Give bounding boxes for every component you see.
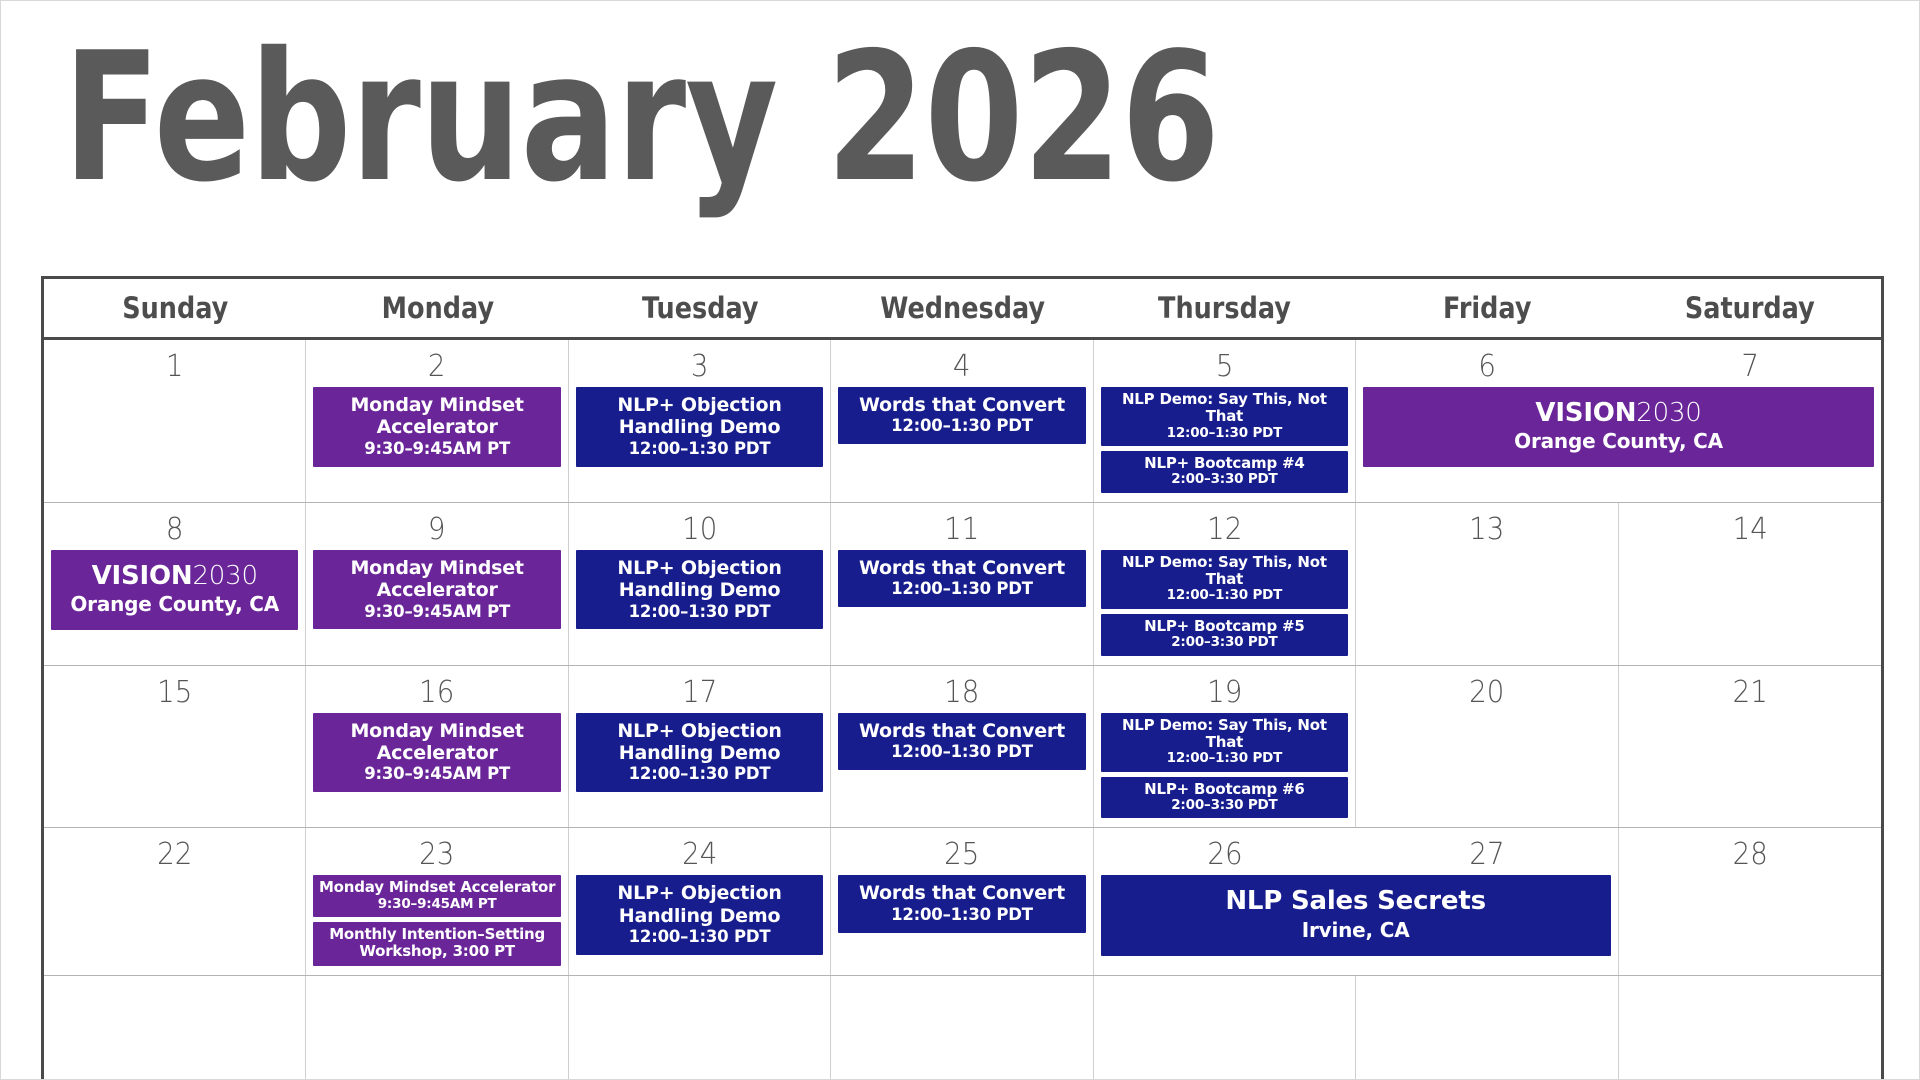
day-events: Monday Mindset Accelerator 9:30–9:45AM P…	[306, 550, 567, 639]
day-cell-23[interactable]: 23 Monday Mindset Accelerator 9:30–9:45A…	[306, 828, 568, 974]
event-time: 12:00–1:30 PDT	[1105, 426, 1344, 442]
event-title: Monday Mindset Accelerator	[317, 879, 556, 896]
event-time: 12:00–1:30 PDT	[1105, 588, 1344, 604]
event-title: NLP Demo: Say This, Not That	[1105, 391, 1344, 426]
day-cell-26: 26	[1094, 828, 1356, 875]
day-events: NLP Demo: Say This, Not That 12:00–1:30 …	[1094, 550, 1355, 665]
day-cell-empty-4[interactable]	[831, 976, 1093, 1080]
page-title-text: February 2026	[63, 36, 1219, 200]
weekday-label: Friday	[1443, 291, 1531, 325]
event-nlp-demo-say-this-not-that[interactable]: NLP Demo: Say This, Not That 12:00–1:30 …	[1101, 387, 1348, 446]
event-title: NLP Sales Secrets	[1107, 886, 1605, 917]
event-nlp-demo-say-this-not-that[interactable]: NLP Demo: Say This, Not That 12:00–1:30 …	[1101, 550, 1348, 609]
day-number: 17	[579, 666, 820, 713]
day-events: Words that Convert 12:00–1:30 PDT	[831, 713, 1092, 779]
day-cell-14[interactable]: 14	[1619, 503, 1881, 665]
day-number: 26	[1104, 828, 1345, 875]
event-time: 2:00–3:30 PDT	[1105, 472, 1344, 488]
event-location: Orange County, CA	[1369, 429, 1868, 454]
event-title: NLP Demo: Say This, Not That	[1105, 717, 1344, 752]
day-number: 14	[1629, 503, 1870, 550]
weekday-header-tuesday: Tuesday	[569, 279, 831, 337]
event-title: NLP+ Objection	[581, 394, 818, 416]
day-cell-19[interactable]: 19 NLP Demo: Say This, Not That 12:00–1:…	[1094, 666, 1356, 828]
day-cell-28[interactable]: 28	[1619, 828, 1881, 974]
week-row-1: 1 2 Monday Mindset Accelerator 9:30–9:45…	[44, 340, 1881, 503]
event-title: Monday Mindset	[318, 720, 555, 742]
event-title: NLP+ Objection	[581, 557, 818, 579]
event-title: Words that Convert	[843, 557, 1080, 579]
event-title: NLP Demo: Say This, Not That	[1105, 554, 1344, 589]
day-number: 13	[1367, 503, 1608, 550]
event-title-line2: Handling Demo	[581, 742, 818, 764]
event-brand-bold: VISION	[1535, 398, 1636, 428]
weekday-header-thursday: Thursday	[1094, 279, 1356, 337]
event-location: Irvine, CA	[1107, 918, 1605, 943]
event-title: NLP+ Bootcamp #4	[1105, 455, 1344, 472]
day-events: NLP+ Objection Handling Demo 12:00–1:30 …	[569, 387, 830, 476]
event-time: 12:00–1:30 PDT	[581, 439, 818, 459]
event-monday-mindset-accelerator[interactable]: Monday Mindset Accelerator 9:30–9:45AM P…	[313, 713, 560, 793]
event-title: NLP+ Objection	[581, 882, 818, 904]
day-number: 16	[317, 666, 558, 713]
event-time: 2:00–3:30 PDT	[1105, 635, 1344, 651]
day-events: NLP+ Objection Handling Demo 12:00–1:30 …	[569, 550, 830, 639]
event-nlp-objection-handling-demo[interactable]: NLP+ Objection Handling Demo 12:00–1:30 …	[576, 875, 823, 955]
day-cell-25[interactable]: 25 Words that Convert 12:00–1:30 PDT	[831, 828, 1093, 974]
day-cell-17[interactable]: 17 NLP+ Objection Handling Demo 12:00–1:…	[569, 666, 831, 828]
weekday-header-wednesday: Wednesday	[831, 279, 1093, 337]
spanned-day-numbers: 6 7	[1356, 340, 1881, 387]
day-number: 24	[579, 828, 820, 875]
event-title: NLP+ Objection	[581, 720, 818, 742]
day-events: Monday Mindset Accelerator 9:30–9:45AM P…	[306, 875, 567, 974]
weekday-label: Thursday	[1158, 291, 1291, 325]
event-time: 12:00–1:30 PDT	[581, 764, 818, 784]
event-nlp-bootcamp-6[interactable]: NLP+ Bootcamp #6 2:00–3:30 PDT	[1101, 777, 1348, 819]
weekday-label: Wednesday	[880, 291, 1045, 325]
event-brand-light: 2030	[192, 561, 257, 591]
day-events: NLP+ Objection Handling Demo 12:00–1:30 …	[569, 875, 830, 964]
day-cell-9[interactable]: 9 Monday Mindset Accelerator 9:30–9:45AM…	[306, 503, 568, 665]
event-title-line2: Handling Demo	[581, 416, 818, 438]
day-events: Words that Convert 12:00–1:30 PDT	[831, 550, 1092, 616]
day-cell-1[interactable]: 1	[44, 340, 306, 502]
day-cell-2[interactable]: 2 Monday Mindset Accelerator 9:30–9:45AM…	[306, 340, 568, 502]
day-cell-16[interactable]: 16 Monday Mindset Accelerator 9:30–9:45A…	[306, 666, 568, 828]
event-time: 2:00–3:30 PDT	[1105, 798, 1344, 814]
event-nlp-bootcamp-5[interactable]: NLP+ Bootcamp #5 2:00–3:30 PDT	[1101, 614, 1348, 656]
event-time: 9:30–9:45AM PT	[318, 602, 555, 622]
day-number: 28	[1629, 828, 1870, 875]
day-cell-6-7-span[interactable]: 6 7 VISION2030 Orange County, CA	[1356, 340, 1881, 502]
event-nlp-sales-secrets[interactable]: NLP Sales Secrets Irvine, CA	[1101, 875, 1611, 955]
event-nlp-bootcamp-4[interactable]: NLP+ Bootcamp #4 2:00–3:30 PDT	[1101, 451, 1348, 493]
event-words-that-convert[interactable]: Words that Convert 12:00–1:30 PDT	[838, 713, 1085, 770]
event-title: NLP+ Bootcamp #5	[1105, 618, 1344, 635]
event-words-that-convert[interactable]: Words that Convert 12:00–1:30 PDT	[838, 875, 1085, 932]
event-title: VISION2030	[1369, 398, 1868, 429]
event-title: Monthly Intention–Setting	[317, 926, 556, 943]
day-number: 12	[1104, 503, 1345, 550]
event-time: 12:00–1:30 PDT	[843, 579, 1080, 599]
day-cell-empty-1[interactable]	[44, 976, 306, 1080]
day-number: 1	[54, 340, 295, 387]
day-cell-6: 6	[1356, 340, 1618, 387]
day-cell-21[interactable]: 21	[1619, 666, 1881, 828]
event-title-line2: Handling Demo	[581, 579, 818, 601]
day-cell-10[interactable]: 10 NLP+ Objection Handling Demo 12:00–1:…	[569, 503, 831, 665]
event-monday-mindset-accelerator[interactable]: Monday Mindset Accelerator 9:30–9:45AM P…	[313, 875, 560, 917]
event-location: Orange County, CA	[57, 592, 292, 617]
event-time: 12:00–1:30 PDT	[843, 742, 1080, 762]
spanned-day-numbers: 26 27	[1094, 828, 1618, 875]
event-title-line2: Accelerator	[318, 579, 555, 601]
day-cell-8[interactable]: 8 VISION2030 Orange County, CA	[44, 503, 306, 665]
event-title: Monday Mindset	[318, 557, 555, 579]
event-title: Monday Mindset	[318, 394, 555, 416]
day-number: 20	[1367, 666, 1608, 713]
day-number: 19	[1104, 666, 1345, 713]
weekday-header-sunday: Sunday	[44, 279, 306, 337]
day-cell-20[interactable]: 20	[1356, 666, 1618, 828]
day-cell-3[interactable]: 3 NLP+ Objection Handling Demo 12:00–1:3…	[569, 340, 831, 502]
day-events: Monday Mindset Accelerator 9:30–9:45AM P…	[306, 387, 567, 476]
calendar-table: Sunday Monday Tuesday Wednesday Thursday…	[41, 276, 1884, 1080]
event-vision2030-conference[interactable]: VISION2030 Orange County, CA	[1363, 387, 1874, 467]
event-time: 9:30–9:45AM PT	[317, 897, 556, 913]
day-number: 22	[54, 828, 295, 875]
day-cell-11[interactable]: 11 Words that Convert 12:00–1:30 PDT	[831, 503, 1093, 665]
event-time: 12:00–1:30 PDT	[581, 602, 818, 622]
day-cell-empty-7[interactable]	[1619, 976, 1881, 1080]
day-cell-7: 7	[1619, 340, 1881, 387]
event-words-that-convert[interactable]: Words that Convert 12:00–1:30 PDT	[838, 387, 1085, 444]
day-cell-22[interactable]: 22	[44, 828, 306, 974]
day-events: VISION2030 Orange County, CA	[1356, 387, 1881, 476]
day-events: NLP Sales Secrets Irvine, CA	[1094, 875, 1618, 964]
day-number: 8	[54, 503, 295, 550]
weekday-label: Saturday	[1685, 291, 1815, 325]
day-cell-15[interactable]: 15	[44, 666, 306, 828]
weekday-header-friday: Friday	[1356, 279, 1618, 337]
day-number: 3	[579, 340, 820, 387]
day-events: NLP Demo: Say This, Not That 12:00–1:30 …	[1094, 387, 1355, 502]
event-title: NLP+ Bootcamp #6	[1105, 781, 1344, 798]
event-monthly-intention-setting-workshop[interactable]: Monthly Intention–Setting Workshop, 3:00…	[313, 922, 560, 966]
day-events: Words that Convert 12:00–1:30 PDT	[831, 387, 1092, 453]
day-number: 18	[842, 666, 1083, 713]
event-title: VISION2030	[57, 561, 292, 592]
event-time: 12:00–1:30 PDT	[581, 927, 818, 947]
day-cell-26-27-span[interactable]: 26 27 NLP Sales Secrets Irvine, CA	[1094, 828, 1619, 974]
day-number: 25	[842, 828, 1083, 875]
weekday-header-monday: Monday	[306, 279, 568, 337]
day-number: 5	[1104, 340, 1345, 387]
week-row-3: 15 16 Monday Mindset Accelerator 9:30–9:…	[44, 666, 1881, 829]
weekday-label: Sunday	[122, 291, 228, 325]
page-title: February 2026	[63, 23, 1508, 213]
day-number: 27	[1366, 828, 1607, 875]
event-title: Words that Convert	[843, 720, 1080, 742]
event-time: 9:30–9:45AM PT	[318, 439, 555, 459]
event-title-line2: Workshop, 3:00 PT	[317, 943, 556, 960]
day-cell-18[interactable]: 18 Words that Convert 12:00–1:30 PDT	[831, 666, 1093, 828]
weekday-label: Monday	[381, 291, 493, 325]
event-brand-bold: VISION	[92, 561, 193, 591]
event-title: Words that Convert	[843, 394, 1080, 416]
event-time: 12:00–1:30 PDT	[843, 416, 1080, 436]
day-number: 7	[1629, 340, 1870, 387]
day-number: 10	[579, 503, 820, 550]
event-title: Words that Convert	[843, 882, 1080, 904]
event-time: 9:30–9:45AM PT	[318, 764, 555, 784]
event-words-that-convert[interactable]: Words that Convert 12:00–1:30 PDT	[838, 550, 1085, 607]
day-number: 6	[1367, 340, 1608, 387]
day-events: VISION2030 Orange County, CA	[44, 550, 305, 639]
day-number: 11	[842, 503, 1083, 550]
event-nlp-demo-say-this-not-that[interactable]: NLP Demo: Say This, Not That 12:00–1:30 …	[1101, 713, 1348, 772]
event-vision2030-conference[interactable]: VISION2030 Orange County, CA	[51, 550, 298, 630]
day-cell-24[interactable]: 24 NLP+ Objection Handling Demo 12:00–1:…	[569, 828, 831, 974]
event-title-line2: Handling Demo	[581, 905, 818, 927]
week-row-5	[44, 976, 1881, 1080]
event-title-line2: Accelerator	[318, 742, 555, 764]
day-cell-empty-2[interactable]	[306, 976, 568, 1080]
day-cell-5[interactable]: 5 NLP Demo: Say This, Not That 12:00–1:3…	[1094, 340, 1356, 502]
event-nlp-objection-handling-demo[interactable]: NLP+ Objection Handling Demo 12:00–1:30 …	[576, 550, 823, 630]
day-number: 4	[842, 340, 1083, 387]
week-row-2: 8 VISION2030 Orange County, CA 9 Monday …	[44, 503, 1881, 666]
day-number: 21	[1629, 666, 1870, 713]
event-brand-light: 2030	[1636, 398, 1701, 428]
day-cell-13[interactable]: 13	[1356, 503, 1618, 665]
day-number: 9	[317, 503, 558, 550]
weekday-header-row: Sunday Monday Tuesday Wednesday Thursday…	[44, 279, 1881, 340]
day-cell-empty-5[interactable]	[1094, 976, 1356, 1080]
event-nlp-objection-handling-demo[interactable]: NLP+ Objection Handling Demo 12:00–1:30 …	[576, 713, 823, 793]
week-row-4: 22 23 Monday Mindset Accelerator 9:30–9:…	[44, 828, 1881, 975]
calendar-page: February 2026 Sunday Monday Tuesday Wedn…	[0, 0, 1920, 1080]
event-monday-mindset-accelerator[interactable]: Monday Mindset Accelerator 9:30–9:45AM P…	[313, 387, 560, 467]
day-cell-27: 27	[1356, 828, 1618, 875]
event-monday-mindset-accelerator[interactable]: Monday Mindset Accelerator 9:30–9:45AM P…	[313, 550, 560, 630]
weekday-label: Tuesday	[642, 291, 759, 325]
event-nlp-objection-handling-demo[interactable]: NLP+ Objection Handling Demo 12:00–1:30 …	[576, 387, 823, 467]
day-events: Words that Convert 12:00–1:30 PDT	[831, 875, 1092, 941]
day-number: 2	[317, 340, 558, 387]
day-cell-empty-3[interactable]	[569, 976, 831, 1080]
day-number: 23	[317, 828, 558, 875]
event-time: 12:00–1:30 PDT	[843, 905, 1080, 925]
weekday-header-saturday: Saturday	[1619, 279, 1881, 337]
day-cell-4[interactable]: 4 Words that Convert 12:00–1:30 PDT	[831, 340, 1093, 502]
day-cell-empty-6[interactable]	[1356, 976, 1618, 1080]
day-events: NLP+ Objection Handling Demo 12:00–1:30 …	[569, 713, 830, 802]
day-cell-12[interactable]: 12 NLP Demo: Say This, Not That 12:00–1:…	[1094, 503, 1356, 665]
day-events: Monday Mindset Accelerator 9:30–9:45AM P…	[306, 713, 567, 802]
event-time: 12:00–1:30 PDT	[1105, 751, 1344, 767]
day-events: NLP Demo: Say This, Not That 12:00–1:30 …	[1094, 713, 1355, 828]
day-number: 15	[54, 666, 295, 713]
event-title-line2: Accelerator	[318, 416, 555, 438]
